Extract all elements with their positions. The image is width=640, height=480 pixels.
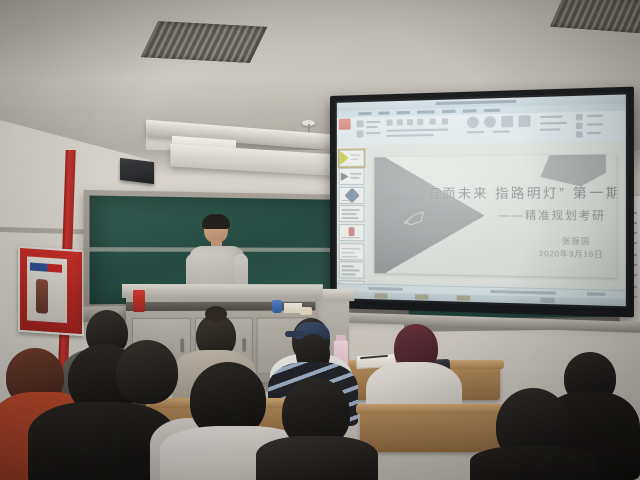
slide-thumbnail[interactable] <box>339 243 365 260</box>
current-slide: “直面未来 指路明灯” 第一期 ——精准规划考研 张振国 2020年9月16日 <box>375 154 616 278</box>
projection-screen: “直面未来 指路明灯” 第一期 ——精准规划考研 张振国 2020年9月16日 <box>330 87 634 318</box>
ppt-slide-stage: “直面未来 指路明灯” 第一期 ——精准规划考研 张振国 2020年9月16日 <box>367 141 626 291</box>
student-hair-bun <box>205 306 227 322</box>
slide-thumbnail[interactable] <box>339 261 365 279</box>
podium-top <box>122 284 323 298</box>
student-body <box>470 446 598 480</box>
slide-subtitle: ——精准规划考研 <box>499 207 606 223</box>
ppt-slide-thumbnail-panel[interactable] <box>337 145 368 285</box>
ppt-file-button[interactable] <box>339 119 351 130</box>
presenter-hair <box>202 214 230 229</box>
slide-thumbnail[interactable] <box>339 187 365 204</box>
slide-triangle-shape <box>375 154 485 278</box>
student-body <box>256 436 378 480</box>
classroom-photo: “直面未来 指路明灯” 第一期 ——精准规划考研 张振国 2020年9月16日 <box>0 0 640 480</box>
wall-speaker <box>120 158 154 184</box>
audience-area <box>0 304 640 480</box>
slide-thumbnail[interactable] <box>339 168 365 185</box>
slide-date: 2020年9月16日 <box>539 247 604 260</box>
rocket-icon <box>402 211 429 228</box>
slide-thumbnail[interactable] <box>339 149 365 166</box>
slide-thumbnail[interactable] <box>339 205 365 222</box>
ppt-document-title <box>436 100 517 105</box>
screen-surface: “直面未来 指路明灯” 第一期 ——精准规划考研 张振国 2020年9月16日 <box>337 94 626 306</box>
slide-title: “直面未来 指路明灯” 第一期 <box>421 181 609 202</box>
slide-thumbnail[interactable] <box>339 224 365 241</box>
slide-author: 张振国 <box>562 235 591 247</box>
student-head <box>116 340 178 404</box>
